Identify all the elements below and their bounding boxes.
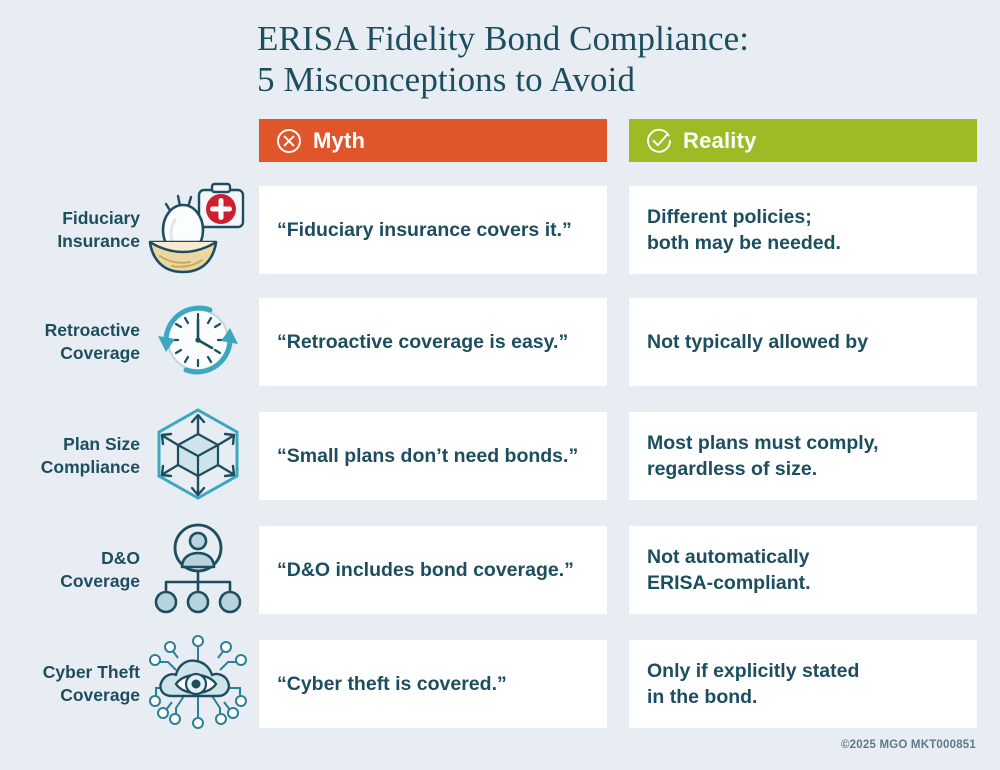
row-label-line-2: Insurance — [8, 230, 140, 253]
myth-card-4-text: “D&O includes bond coverage.” — [277, 557, 574, 583]
reality-card-4-line-2: ERISA-compliant. — [647, 570, 811, 596]
reality-card-2-line-1: Not typically allowed by — [647, 329, 868, 355]
myth-card-5-line-1: “Cyber theft is covered.” — [277, 671, 507, 697]
reality-card-2: Not typically allowed by — [629, 298, 977, 386]
row-label-line-2: Coverage — [8, 342, 140, 365]
reality-card-5-line-2: in the bond. — [647, 684, 859, 710]
myth-card-3-text: “Small plans don’t need bonds.” — [277, 443, 578, 469]
myth-card-5: “Cyber theft is covered.” — [259, 640, 607, 728]
reality-card-5-text: Only if explicitly stated in the bond. — [647, 658, 859, 710]
reality-card-5: Only if explicitly stated in the bond. — [629, 640, 977, 728]
myth-card-1: “Fiduciary insurance covers it.” — [259, 186, 607, 274]
row-label-retroactive-coverage: Retroactive Coverage — [8, 298, 140, 386]
row-label-line-1: Plan Size — [8, 433, 140, 456]
row-label-line-1: Retroactive — [8, 319, 140, 342]
row-label-line-1: Cyber Theft — [8, 661, 140, 684]
row-label-plan-size-compliance: Plan Size Compliance — [8, 412, 140, 500]
column-header-reality-label: Reality — [683, 130, 757, 152]
myth-card-3-line-1: “Small plans don’t need bonds.” — [277, 443, 578, 469]
myth-card-2-line-1: “Retroactive coverage is easy.” — [277, 329, 568, 355]
myth-card-2: “Retroactive coverage is easy.” — [259, 298, 607, 386]
copyright-notice: ©2025 MGO MKT000851 — [841, 739, 976, 751]
reality-card-4-text: Not automatically ERISA-compliant. — [647, 544, 811, 596]
column-header-myth: Myth — [259, 119, 607, 162]
reality-card-3: Most plans must comply, regardless of si… — [629, 412, 977, 500]
myth-card-1-text: “Fiduciary insurance covers it.” — [277, 217, 572, 243]
nest-egg-first-aid-icon — [146, 178, 250, 278]
reality-card-4: Not automatically ERISA-compliant. — [629, 526, 977, 614]
reality-card-1-line-2: both may be needed. — [647, 230, 841, 256]
page-title: ERISA Fidelity Bond Compliance: 5 Miscon… — [257, 18, 957, 100]
row-label-fiduciary-insurance: Fiduciary Insurance — [8, 186, 140, 274]
row-label-line-2: Compliance — [8, 456, 140, 479]
reality-card-3-line-2: regardless of size. — [647, 456, 879, 482]
column-header-reality: Reality — [629, 119, 977, 162]
reality-card-4-line-1: Not automatically — [647, 544, 811, 570]
row-label-do-coverage: D&O Coverage — [8, 526, 140, 614]
myth-card-3: “Small plans don’t need bonds.” — [259, 412, 607, 500]
org-chart-person-icon — [146, 518, 250, 618]
hexagon-cube-arrows-icon — [146, 404, 250, 504]
reality-card-1-line-1: Different policies; — [647, 204, 841, 230]
reality-card-3-text: Most plans must comply, regardless of si… — [647, 430, 879, 482]
column-header-myth-label: Myth — [313, 130, 365, 152]
row-label-line-1: Fiduciary — [8, 207, 140, 230]
page-title-line-1: ERISA Fidelity Bond Compliance: — [257, 18, 957, 59]
row-label-cyber-theft-coverage: Cyber Theft Coverage — [8, 640, 140, 728]
myth-card-4: “D&O includes bond coverage.” — [259, 526, 607, 614]
clock-rotate-icon — [146, 290, 250, 390]
myth-card-2-text: “Retroactive coverage is easy.” — [277, 329, 568, 355]
myth-card-1-line-1: “Fiduciary insurance covers it.” — [277, 217, 572, 243]
circle-check-icon — [646, 128, 672, 154]
row-label-line-2: Coverage — [8, 570, 140, 593]
reality-card-1-text: Different policies; both may be needed. — [647, 204, 841, 256]
myth-card-5-text: “Cyber theft is covered.” — [277, 671, 507, 697]
cloud-eye-circuit-icon — [146, 632, 250, 732]
row-label-line-1: D&O — [8, 547, 140, 570]
row-label-line-2: Coverage — [8, 684, 140, 707]
reality-card-5-line-1: Only if explicitly stated — [647, 658, 859, 684]
reality-card-3-line-1: Most plans must comply, — [647, 430, 879, 456]
reality-card-2-text: Not typically allowed by — [647, 329, 868, 355]
reality-card-1: Different policies; both may be needed. — [629, 186, 977, 274]
myth-card-4-line-1: “D&O includes bond coverage.” — [277, 557, 574, 583]
circle-x-icon — [276, 128, 302, 154]
page-title-line-2: 5 Misconceptions to Avoid — [257, 59, 957, 100]
